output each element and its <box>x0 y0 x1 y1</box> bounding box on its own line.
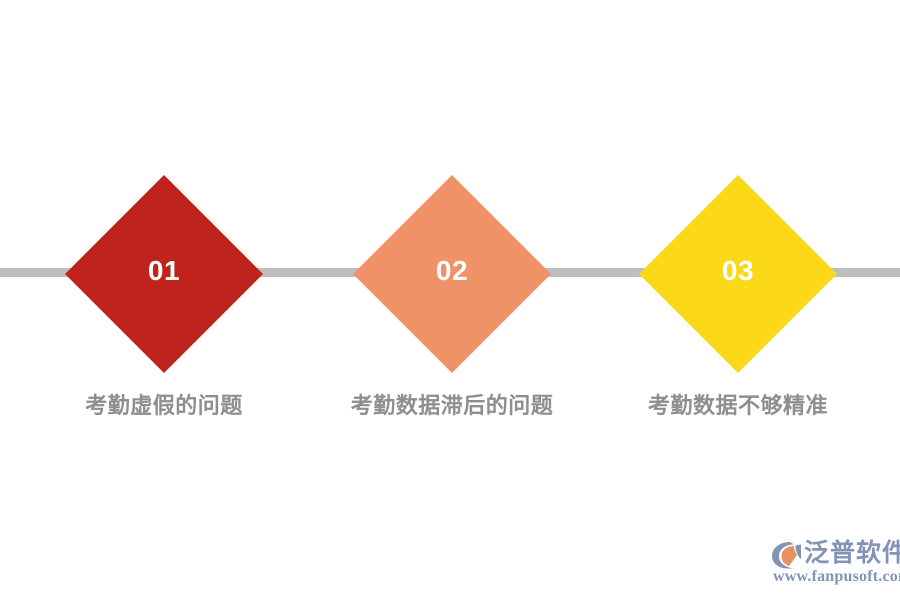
step-item-01[interactable]: 01 考勤虚假的问题 <box>66 176 262 372</box>
logo-brand-text: 泛普软件 <box>804 538 900 568</box>
diamond-shape-03[interactable]: 03 <box>640 176 836 372</box>
watermark-logo: 泛普软件 www.fanpusoft.com <box>770 538 895 590</box>
step-number-01: 01 <box>66 176 262 372</box>
step-item-02[interactable]: 02 考勤数据滞后的问题 <box>354 176 550 372</box>
step-item-03[interactable]: 03 考勤数据不够精准 <box>640 176 836 372</box>
step-number-03: 03 <box>640 176 836 372</box>
fanpu-logo-icon <box>770 540 802 570</box>
diamond-shape-01[interactable]: 01 <box>66 176 262 372</box>
step-list: 01 考勤虚假的问题 02 考勤数据滞后的问题 03 考勤数据不够精准 <box>0 0 900 600</box>
step-number-02: 02 <box>354 176 550 372</box>
diamond-shape-02[interactable]: 02 <box>354 176 550 372</box>
step-label-03: 考勤数据不够精准 <box>588 388 888 420</box>
infographic-canvas: 01 考勤虚假的问题 02 考勤数据滞后的问题 03 考勤数据不够精准 <box>0 0 900 600</box>
step-label-01: 考勤虚假的问题 <box>14 388 314 420</box>
step-label-02: 考勤数据滞后的问题 <box>302 388 602 420</box>
logo-url-text: www.fanpusoft.com <box>773 568 900 586</box>
